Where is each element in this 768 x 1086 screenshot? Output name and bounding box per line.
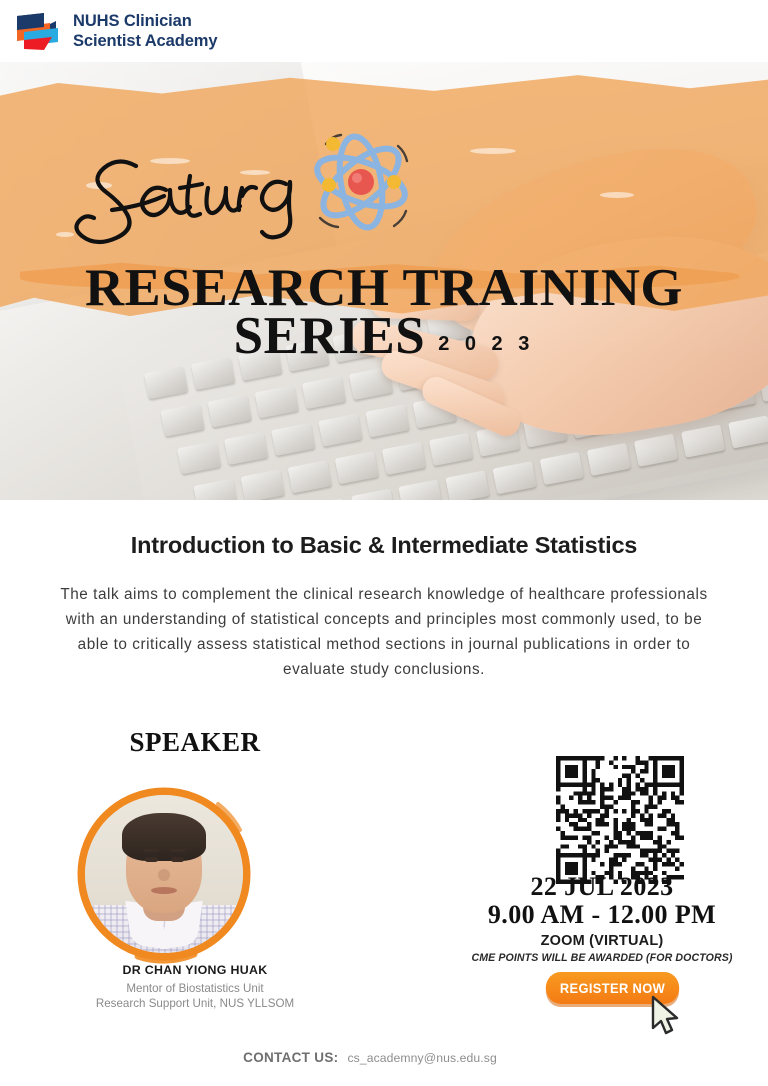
speaker-photo <box>68 778 260 970</box>
speaker-role: Mentor of Biostatistics Unit Research Su… <box>0 981 390 1012</box>
event-time: 9.00 AM - 12.00 PM <box>436 900 768 930</box>
contact-label: CONTACT US: <box>243 1050 338 1065</box>
nuhs-ribbon-logo-icon <box>14 10 62 52</box>
contact-footer: CONTACT US: cs_academny@nus.edu.sg <box>0 1050 768 1065</box>
hero-banner: RESEARCH TRAINING SERIES 2 0 2 3 <box>0 62 768 500</box>
event-date: 22 JUL 2023 <box>452 872 752 902</box>
speaker-portrait-image <box>85 795 243 953</box>
page-title: Introduction to Basic & Intermediate Sta… <box>0 532 768 559</box>
mouse-cursor-icon <box>650 995 684 1039</box>
banner-year: 2 0 2 3 <box>438 333 534 356</box>
speaker-name: DR CHAN YIONG HUAK <box>0 963 390 977</box>
banner-title-line2: SERIES <box>234 310 426 363</box>
speaker-label: SPEAKER <box>0 727 390 758</box>
cme-note: CME POINTS WILL BE AWARDED (FOR DOCTORS) <box>412 952 768 964</box>
contact-email[interactable]: cs_academny@nus.edu.sg <box>347 1051 496 1065</box>
description-paragraph: The talk aims to complement the clinical… <box>58 583 710 683</box>
script-word-saturday <box>62 140 322 260</box>
org-name: NUHS Clinician Scientist Academy <box>73 11 217 51</box>
page-header: NUHS Clinician Scientist Academy <box>0 0 768 62</box>
event-platform: ZOOM (VIRTUAL) <box>452 933 752 949</box>
qr-code[interactable] <box>556 756 684 884</box>
